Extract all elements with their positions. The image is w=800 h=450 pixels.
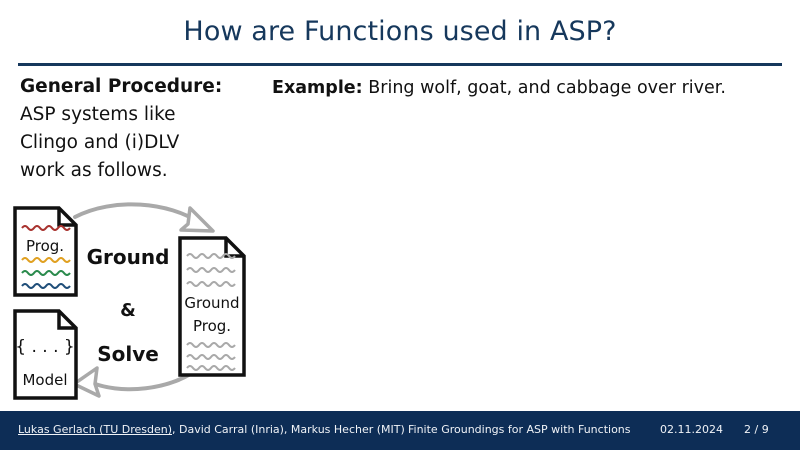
general-procedure-line: Clingo and (i)DLV — [20, 129, 265, 157]
page-title: How are Functions used in ASP? — [0, 16, 800, 47]
title-divider — [18, 63, 782, 66]
document-model-label: Model — [22, 371, 67, 389]
general-procedure-heading: General Procedure: — [20, 73, 265, 101]
footer-presenting-author: Lukas Gerlach (TU Dresden) — [18, 423, 172, 436]
cycle-label-ampersand: & — [120, 300, 136, 321]
general-procedure-line: work as follows. — [20, 157, 265, 185]
general-procedure-line: ASP systems like — [20, 101, 265, 129]
document-model: { . . . } Model — [15, 311, 76, 398]
cycle-label-ground: Ground — [87, 245, 170, 269]
footer-date: 02.11.2024 — [660, 423, 723, 436]
general-procedure-block: General Procedure: ASP systems like Clin… — [20, 73, 265, 185]
document-ground-program: Ground Prog. — [180, 238, 244, 375]
document-ground-program-label-1: Prog. — [193, 317, 231, 335]
footer-paper-title: Finite Groundings for ASP with Functions — [408, 423, 631, 436]
document-ground-program-label-0: Ground — [184, 294, 239, 312]
document-program-label-0: Prog. — [26, 237, 64, 255]
document-model-braces: { . . . } — [15, 337, 74, 357]
ground-and-solve-diagram: Prog. { . . . } Model Ground Prog. — [4, 200, 270, 408]
example-label: Example: — [272, 78, 363, 98]
footer-authors: Lukas Gerlach (TU Dresden), David Carral… — [18, 423, 405, 436]
slide: How are Functions used in ASP? General P… — [0, 0, 800, 450]
cycle-label-solve: Solve — [97, 342, 159, 366]
document-program: Prog. — [15, 208, 76, 295]
example-block: Example: Bring wolf, goat, and cabbage o… — [272, 76, 792, 100]
ground-arrow-icon — [75, 204, 213, 231]
general-procedure-body: ASP systems like Clingo and (i)DLV work … — [20, 101, 265, 185]
example-text: Bring wolf, goat, and cabbage over river… — [363, 78, 726, 98]
slide-footer: Lukas Gerlach (TU Dresden), David Carral… — [0, 411, 800, 450]
footer-coauthors: , David Carral (Inria), Markus Hecher (M… — [172, 423, 405, 436]
footer-page-number: 2 / 9 — [744, 423, 769, 436]
